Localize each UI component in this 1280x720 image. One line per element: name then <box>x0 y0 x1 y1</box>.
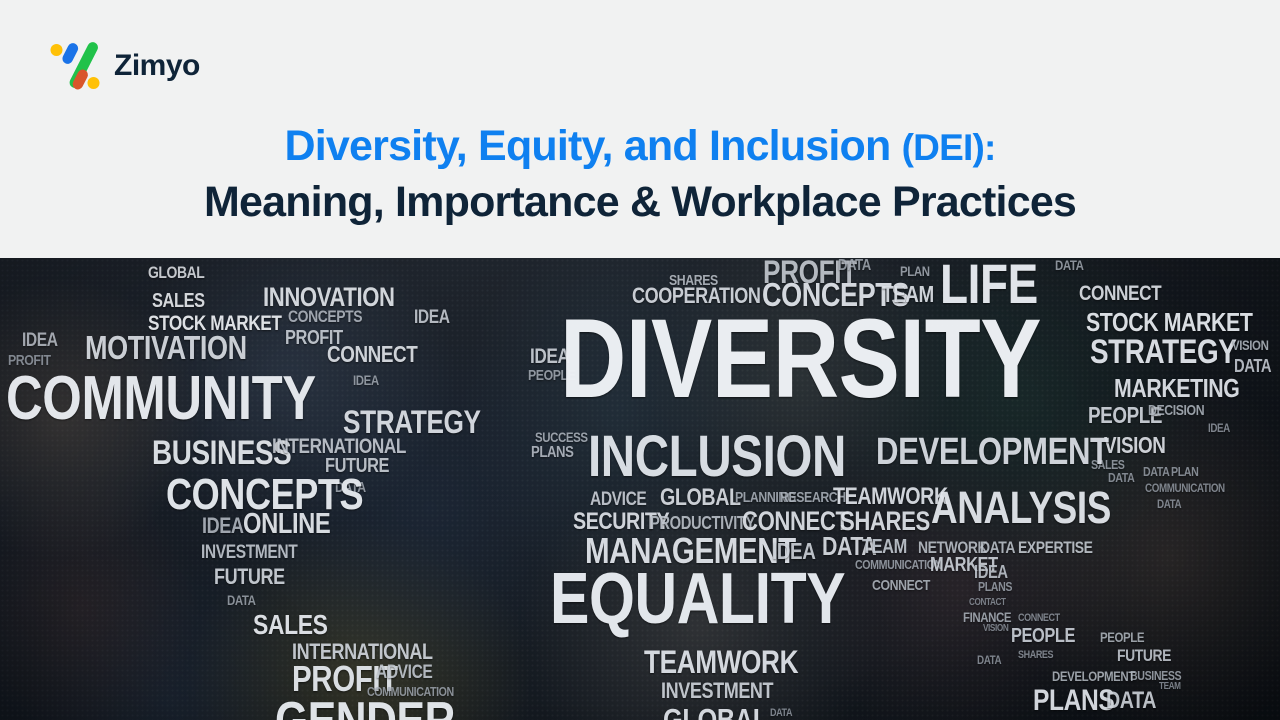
wordcloud-word: DATA <box>770 708 792 719</box>
wordcloud-word: PEOPLE <box>1100 630 1144 644</box>
wordcloud-word: DATA <box>977 654 1001 666</box>
page-title-line-1: Diversity, Equity, and Inclusion (DEI): <box>0 122 1280 172</box>
brand-logo[interactable]: Zimyo <box>48 40 200 92</box>
wordcloud-word: LIFE <box>940 258 1038 312</box>
wordcloud-word: FUTURE <box>1117 647 1171 664</box>
page-title: Diversity, Equity, and Inclusion (DEI): … <box>0 122 1280 228</box>
wordcloud-word: SHARES <box>1018 650 1053 661</box>
hero-wordcloud-image: GLOBALSALESSTOCK MARKETMOTIVATIONIDEAPRO… <box>0 258 1280 720</box>
wordcloud-word: SALES <box>152 291 205 311</box>
wordcloud-word: PEOPLE <box>1011 626 1075 646</box>
wordcloud-word: BUSINESS <box>152 436 291 470</box>
wordcloud-word: CONNECT <box>1018 613 1060 624</box>
wordcloud-word: COMMUNITY <box>6 368 316 430</box>
wordcloud-word: STOCK MARKET <box>1086 309 1252 335</box>
wordcloud-word: CONNECT <box>1079 283 1161 304</box>
wordcloud-word: PLAN <box>1171 465 1198 478</box>
wordcloud-word: GENDER <box>275 695 455 720</box>
wordcloud-word: DATA <box>1157 498 1181 510</box>
page-root: Zimyo Diversity, Equity, and Inclusion (… <box>0 0 1280 720</box>
brand-name: Zimyo <box>114 51 200 81</box>
wordcloud-word: CONNECT <box>872 578 930 593</box>
page-title-line-1-text: Diversity, Equity, and Inclusion <box>285 122 902 170</box>
wordcloud-word: SUCCESS <box>535 430 588 444</box>
wordcloud-words: GLOBALSALESSTOCK MARKETMOTIVATIONIDEAPRO… <box>0 258 1280 720</box>
wordcloud-word: EQUALITY <box>550 563 845 635</box>
wordcloud-word: TEAM <box>1159 682 1181 692</box>
wordcloud-word: DATA <box>1143 465 1169 478</box>
wordcloud-word: PLAN <box>900 264 930 278</box>
wordcloud-word: COMMUNICATION <box>1145 482 1225 494</box>
wordcloud-word: IDEA <box>353 373 379 387</box>
wordcloud-word: ADVICE <box>590 490 646 509</box>
wordcloud-word: FUTURE <box>214 566 285 588</box>
wordcloud-word: DECISION <box>1148 403 1204 418</box>
wordcloud-word: INTERNATIONAL <box>272 436 406 457</box>
wordcloud-word: FINANCE <box>963 610 1011 624</box>
wordcloud-word: ONLINE <box>243 510 330 539</box>
wordcloud-word: VISION <box>1104 434 1165 457</box>
wordcloud-word: GLOBAL <box>660 486 741 510</box>
wordcloud-word: CONCEPTS <box>288 308 362 325</box>
wordcloud-word: DIVERSE <box>1030 716 1178 720</box>
wordcloud-word: TEAM <box>862 537 907 557</box>
wordcloud-word: DIVERSITY <box>560 303 1041 415</box>
wordcloud-word: IDEA <box>414 308 450 327</box>
wordcloud-word: CONNECT <box>327 343 417 366</box>
wordcloud-word: STRATEGY <box>343 406 481 438</box>
wordcloud-word: PLANS <box>531 445 573 461</box>
wordcloud-word: STRATEGY <box>1090 335 1236 369</box>
wordcloud-word: EXPERTISE <box>1018 539 1093 556</box>
wordcloud-word: MOTIVATION <box>85 331 247 364</box>
page-title-abbreviation: (DEI): <box>902 127 996 168</box>
wordcloud-word: DATA <box>1055 258 1084 272</box>
wordcloud-word: SALES <box>253 611 328 639</box>
wordcloud-word: VISION <box>1232 338 1268 352</box>
wordcloud-word: VISION <box>983 624 1008 634</box>
wordcloud-word: DEVELOPMENT <box>876 433 1109 471</box>
wordcloud-word: INCLUSION <box>588 428 846 486</box>
wordcloud-word: ANALYSIS <box>931 485 1111 530</box>
wordcloud-word: ADVICE <box>376 663 432 682</box>
wordcloud-word: CONTACT <box>969 598 1006 608</box>
zimyo-logo-icon <box>48 40 100 92</box>
wordcloud-word: DATA <box>1106 689 1156 713</box>
wordcloud-word: DATA <box>1234 357 1271 375</box>
wordcloud-word: GLOBAL <box>148 264 204 281</box>
wordcloud-word: IDEA <box>202 515 243 537</box>
wordcloud-word: IDEA <box>1208 422 1230 434</box>
wordcloud-word: PLANS <box>1033 686 1114 716</box>
wordcloud-word: DEVELOPMENT <box>1052 669 1135 683</box>
wordcloud-word: TEAMWORK <box>644 646 798 678</box>
wordcloud-word: INVESTMENT <box>661 680 773 702</box>
page-header: Zimyo Diversity, Equity, and Inclusion (… <box>0 0 1280 258</box>
wordcloud-word: DATA <box>1108 471 1134 484</box>
wordcloud-word: TEAM <box>882 283 934 306</box>
wordcloud-word: DATA <box>227 593 256 607</box>
wordcloud-word: GLOBAL <box>663 704 768 720</box>
wordcloud-word: PLANS <box>978 580 1012 593</box>
wordcloud-word: MARKETING <box>1114 375 1239 401</box>
page-title-line-2: Meaning, Importance & Workplace Practice… <box>0 178 1280 228</box>
wordcloud-word: INVESTMENT <box>201 543 297 562</box>
wordcloud-word: IDEA <box>22 331 58 350</box>
wordcloud-word: COMMUNICATION <box>855 558 942 571</box>
wordcloud-word: DATA <box>838 258 871 274</box>
